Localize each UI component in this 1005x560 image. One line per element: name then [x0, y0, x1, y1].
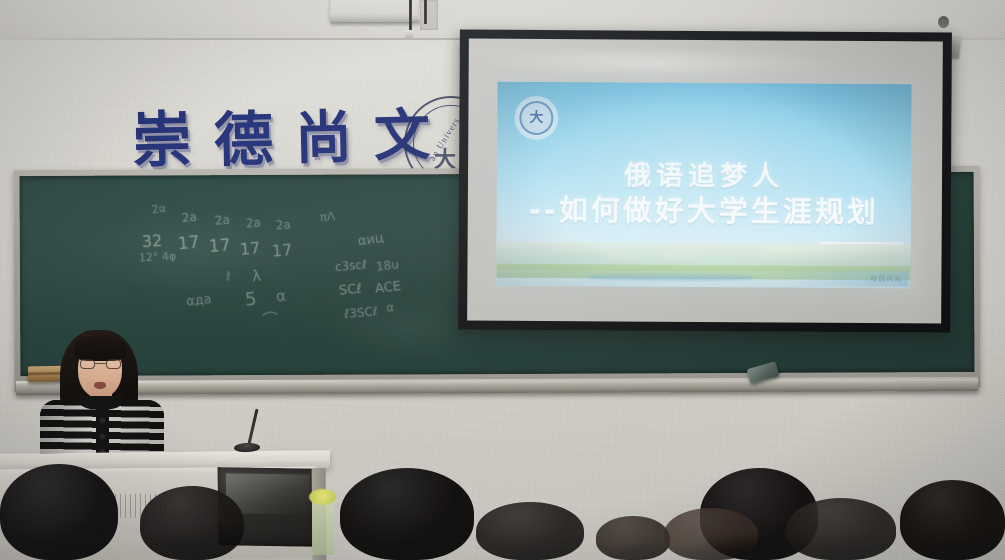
chalk-note: αда — [185, 292, 212, 310]
chalk-note: αиц — [357, 231, 385, 250]
chalk-note: 17 — [177, 232, 200, 254]
chalk-note: ⌒ — [261, 305, 279, 330]
floor-plant-foliage — [309, 489, 336, 505]
screen-light-hotspot — [479, 45, 835, 81]
presenter-hair-front — [74, 335, 127, 361]
audience-hair — [140, 486, 244, 560]
chalk-note: c3scℓ — [334, 257, 367, 274]
audience-head-8 — [786, 498, 896, 560]
glasses-bridge — [95, 363, 106, 364]
chalk-note: 12° 4φ — [139, 249, 177, 264]
chalk-note: 18u — [375, 257, 399, 273]
audience-head-3 — [340, 468, 474, 560]
chalk-note: λ — [251, 267, 262, 286]
slide-title-line-2: --如何做好大学生涯规划 — [497, 193, 911, 230]
chalk-note: ℓЗSCℓ — [344, 304, 379, 321]
chalk-note: 32 — [141, 231, 162, 251]
chalk-note: α — [275, 286, 287, 305]
floor-plant-pot — [312, 497, 334, 555]
audience-hair — [596, 516, 670, 560]
slide-title-block: 俄语追梦人 --如何做好大学生涯规划 — [497, 160, 911, 230]
chalk-note: πΛ — [319, 209, 335, 224]
chalk-note: 2a — [181, 210, 197, 226]
slide-logo-ring: 大 — [519, 101, 553, 135]
glasses-lens-right — [106, 359, 121, 369]
ceiling-speaker — [329, 0, 419, 22]
audience-head-7 — [664, 508, 758, 560]
chalk-note: 5 — [244, 289, 257, 311]
audience-hair — [476, 502, 584, 560]
chalk-note: 17 — [239, 238, 261, 258]
audience-hair — [664, 508, 758, 560]
chalk-note: 2a — [245, 216, 261, 231]
classroom-lecture-photo: 崇 德 尚 文 an Univers 大 2α2a2a2a2aπΛ3217171… — [0, 0, 1005, 560]
screen-drop-rod-left — [409, 0, 412, 32]
projected-slide: 大 俄语追梦人 --如何做好大学生涯规划 校园风光 — [496, 82, 911, 289]
chalk-note: 2a — [275, 218, 291, 233]
chalk-note: 17 — [208, 235, 231, 257]
screen-rod-cap — [405, 30, 413, 39]
chalk-note: α — [386, 300, 395, 315]
audience-head-9 — [900, 480, 1005, 560]
chalk-note: 2a — [214, 213, 230, 228]
presenter-collar — [80, 396, 122, 410]
audience-hair — [0, 464, 118, 560]
projection-screen: 大 俄语追梦人 --如何做好大学生涯规划 校园风光 — [458, 30, 952, 333]
campus-lake — [587, 273, 753, 281]
slide-logo-glyph: 大 — [529, 111, 543, 125]
slide-university-logo: 大 — [514, 96, 558, 140]
chalk-note: ℓ — [225, 269, 231, 283]
chalk-note: SCℓ — [338, 282, 362, 299]
board-smudge — [80, 205, 300, 296]
audience-head-1 — [0, 464, 118, 560]
audience-hair — [786, 498, 896, 560]
wall-anchor-bolt — [938, 16, 949, 28]
screen-drop-rod-right — [424, 0, 427, 24]
slide-title-line-1: 俄语追梦人 — [497, 160, 911, 194]
screen-surface: 大 俄语追梦人 --如何做好大学生涯规划 校园风光 — [467, 39, 943, 324]
audience-head-5 — [596, 516, 670, 560]
chalk-note: 2α — [151, 202, 167, 217]
chalk-note: ACE — [374, 279, 401, 297]
audience-head-4 — [476, 502, 584, 560]
chalk-note: 17 — [271, 240, 293, 260]
ceiling-vent — [420, 0, 438, 30]
presenter-glasses — [80, 359, 121, 369]
presenter-mouth — [94, 382, 106, 389]
audience-head-2 — [140, 486, 244, 560]
audience-hair — [900, 480, 1005, 560]
glasses-lens-left — [80, 359, 95, 369]
audience-hair — [340, 468, 474, 560]
slide-footer-text: 校园风光 — [870, 274, 902, 284]
